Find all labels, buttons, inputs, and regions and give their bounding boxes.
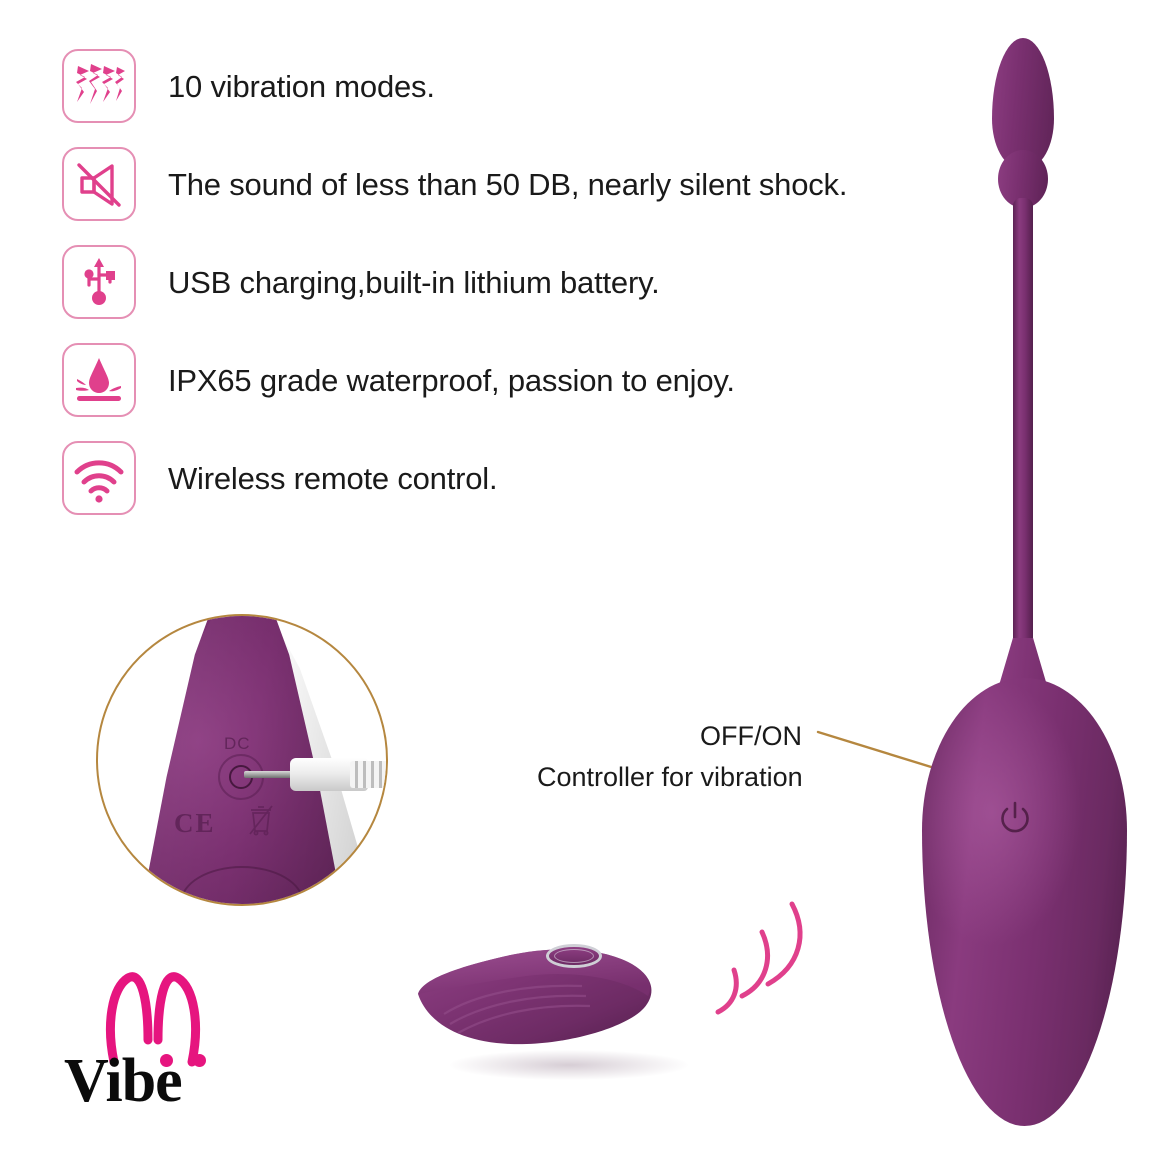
vibration-waves-icon <box>62 49 136 123</box>
product-egg-body <box>922 678 1127 1126</box>
feature-row-silent: The sound of less than 50 DB, nearly sil… <box>62 140 942 228</box>
callout-controller-label: Controller for vibration <box>537 762 803 793</box>
callout-offon-label: OFF/ON <box>700 721 802 752</box>
waterproof-droplet-icon <box>62 343 136 417</box>
charger-cable-grip <box>350 761 388 788</box>
feature-list: 10 vibration modes. The sound of less th… <box>62 42 942 532</box>
wireless-signal-arcs <box>704 900 824 1040</box>
bunny-eye-right <box>193 1054 206 1067</box>
charging-port-detail-circle: DC CE <box>96 614 388 906</box>
product-retrieval-stem <box>1013 198 1033 678</box>
mute-speaker-icon <box>62 147 136 221</box>
remote-control-group <box>404 900 824 1130</box>
feature-label: The sound of less than 50 DB, nearly sil… <box>168 169 847 200</box>
crossed-out-wheelie-bin-icon <box>248 804 274 836</box>
feature-row-waterproof: IPX65 grade waterproof, passion to enjoy… <box>62 336 942 424</box>
feature-label: IPX65 grade waterproof, passion to enjoy… <box>168 365 735 396</box>
feature-label: 10 vibration modes. <box>168 71 435 102</box>
usb-icon <box>62 245 136 319</box>
remote-power-button-inner-ring <box>554 949 594 963</box>
feature-row-usb-charging: USB charging,built-in lithium battery. <box>62 238 942 326</box>
feature-label: USB charging,built-in lithium battery. <box>168 267 660 298</box>
feature-row-wireless: Wireless remote control. <box>62 434 942 522</box>
product-tip <box>992 38 1054 168</box>
brand-logo: Vibe <box>64 968 284 1118</box>
ce-mark-label: CE <box>174 808 216 839</box>
dc-port-label: DC <box>224 734 251 754</box>
wifi-signal-icon <box>62 441 136 515</box>
egg-vibrator-product <box>900 38 1150 1128</box>
brand-name: Vibe <box>64 1046 182 1117</box>
feature-row-vibration-modes: 10 vibration modes. <box>62 42 942 130</box>
power-symbol-icon[interactable] <box>998 800 1032 838</box>
feature-label: Wireless remote control. <box>168 463 497 494</box>
